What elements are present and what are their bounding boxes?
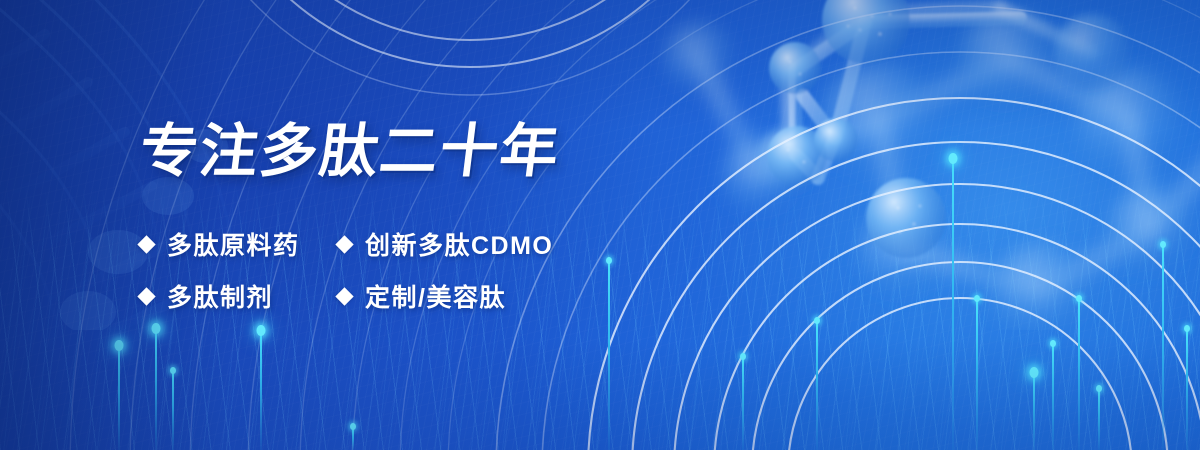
feature-item-formulation[interactable]: 多肽制剂 [140,278,338,314]
diamond-bullet-icon [335,235,353,253]
feature-item-cdmo[interactable]: 创新多肽CDMO [338,226,553,262]
feature-list: 多肽原料药 创新多肽CDMO 多肽制剂 定制/美容肽 [140,218,610,322]
feature-item-api[interactable]: 多肽原料药 [140,226,338,262]
diamond-bullet-icon [137,235,155,253]
page-title: 专注多肽二十年 [136,120,564,184]
diamond-bullet-icon [137,287,155,305]
feature-label: 多肽制剂 [167,278,273,314]
feature-label: 多肽原料药 [167,226,300,262]
feature-label: 创新多肽CDMO [365,226,553,262]
banner-content: 专注多肽二十年 多肽原料药 创新多肽CDMO 多肽制剂 [0,0,720,450]
feature-row: 多肽原料药 创新多肽CDMO [140,218,610,270]
feature-item-custom[interactable]: 定制/美容肽 [338,278,506,314]
diamond-bullet-icon [335,287,353,305]
feature-label: 定制/美容肽 [365,278,506,314]
feature-row: 多肽制剂 定制/美容肽 [140,270,610,322]
peptide-promo-banner: 专注多肽二十年 多肽原料药 创新多肽CDMO 多肽制剂 [0,0,1200,450]
